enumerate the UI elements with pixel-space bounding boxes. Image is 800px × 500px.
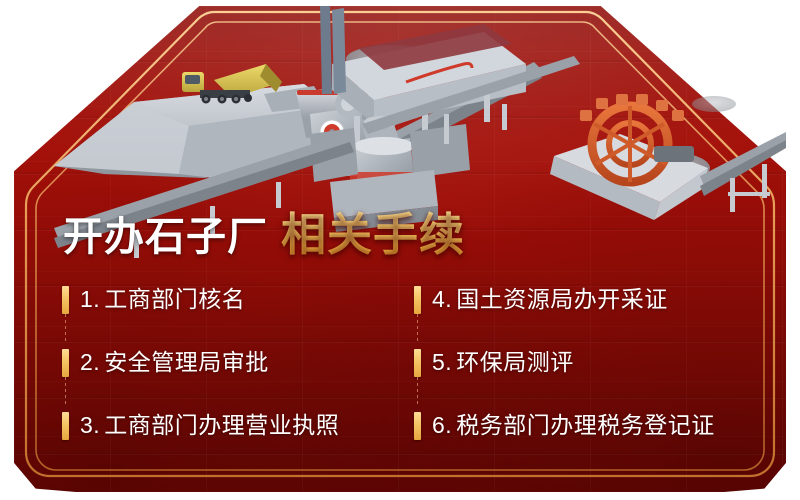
list-item-label: 工商部门办理营业执照 bbox=[104, 412, 339, 438]
page-title: 开办石子厂 相关手续 bbox=[63, 198, 465, 250]
list-item-text: 1.工商部门核名 bbox=[80, 288, 245, 311]
list-item[interactable]: 5.环保局测评 bbox=[414, 331, 774, 394]
list-item-label: 工商部门核名 bbox=[104, 286, 245, 312]
list-item-number: 1. bbox=[80, 286, 100, 312]
list-marker-icon bbox=[62, 349, 69, 377]
list-item-text: 4.国土资源局办开采证 bbox=[432, 288, 668, 311]
list-marker-icon bbox=[62, 286, 69, 314]
list-marker-icon bbox=[414, 412, 421, 440]
list-marker-icon bbox=[414, 349, 421, 377]
list-marker-icon bbox=[414, 286, 421, 314]
list-item-text: 6.税务部门办理税务登记证 bbox=[432, 414, 715, 437]
title-white-part: 开办石子厂 bbox=[63, 204, 268, 262]
list-item[interactable]: 2.安全管理局审批 bbox=[62, 331, 422, 394]
list-item-label: 安全管理局审批 bbox=[104, 349, 269, 375]
list-item[interactable]: 6.税务部门办理税务登记证 bbox=[414, 394, 774, 457]
list-item-number: 6. bbox=[432, 412, 452, 438]
list-item-label: 环保局测评 bbox=[456, 349, 574, 375]
list-item[interactable]: 4.国土资源局办开采证 bbox=[414, 268, 774, 331]
list-item-label: 国土资源局办开采证 bbox=[456, 286, 668, 312]
list-item[interactable]: 1.工商部门核名 bbox=[62, 268, 422, 331]
procedure-column-left: 1.工商部门核名 2.安全管理局审批 3.工商部门办理营业执照 bbox=[62, 268, 422, 457]
list-item-text: 3.工商部门办理营业执照 bbox=[80, 414, 339, 437]
list-item-label: 税务部门办理税务登记证 bbox=[456, 412, 715, 438]
list-item-text: 5.环保局测评 bbox=[432, 351, 574, 374]
title-gold-part: 相关手续 bbox=[281, 198, 465, 263]
list-item-number: 4. bbox=[432, 286, 452, 312]
list-item-number: 5. bbox=[432, 349, 452, 375]
procedure-column-right: 4.国土资源局办开采证 5.环保局测评 6.税务部门办理税务登记证 bbox=[414, 268, 774, 457]
list-marker-icon bbox=[62, 412, 69, 440]
list-item-text: 2.安全管理局审批 bbox=[80, 351, 269, 374]
list-item-number: 2. bbox=[80, 349, 100, 375]
plate-sheen bbox=[14, 6, 786, 196]
poster-canvas: 开办石子厂 相关手续 1.工商部门核名 2.安全管理局审批 3.工商部门办理营业… bbox=[0, 0, 800, 500]
procedure-list: 1.工商部门核名 2.安全管理局审批 3.工商部门办理营业执照 4.国土 bbox=[0, 268, 800, 458]
list-item[interactable]: 3.工商部门办理营业执照 bbox=[62, 394, 422, 457]
list-item-number: 3. bbox=[80, 412, 100, 438]
